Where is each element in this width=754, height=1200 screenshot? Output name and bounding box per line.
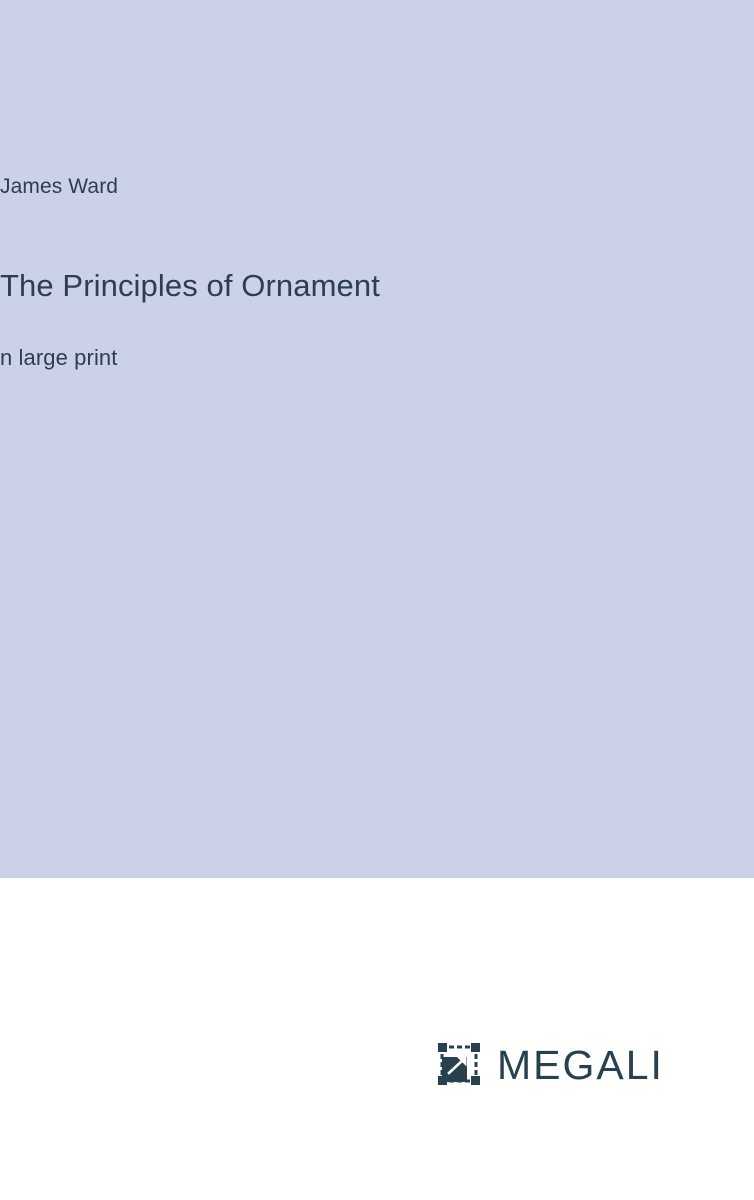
book-title: The Principles of Ornament: [0, 270, 380, 301]
edition-subtitle: n large print: [0, 347, 117, 369]
publisher-logo: MEGALI: [437, 1039, 664, 1091]
book-cover: James Ward The Principles of Ornament n …: [0, 0, 754, 1200]
transform-scale-icon: [437, 1042, 483, 1088]
cover-board: [0, 0, 754, 878]
publisher-name: MEGALI: [497, 1045, 664, 1086]
author-name: James Ward: [0, 176, 118, 197]
